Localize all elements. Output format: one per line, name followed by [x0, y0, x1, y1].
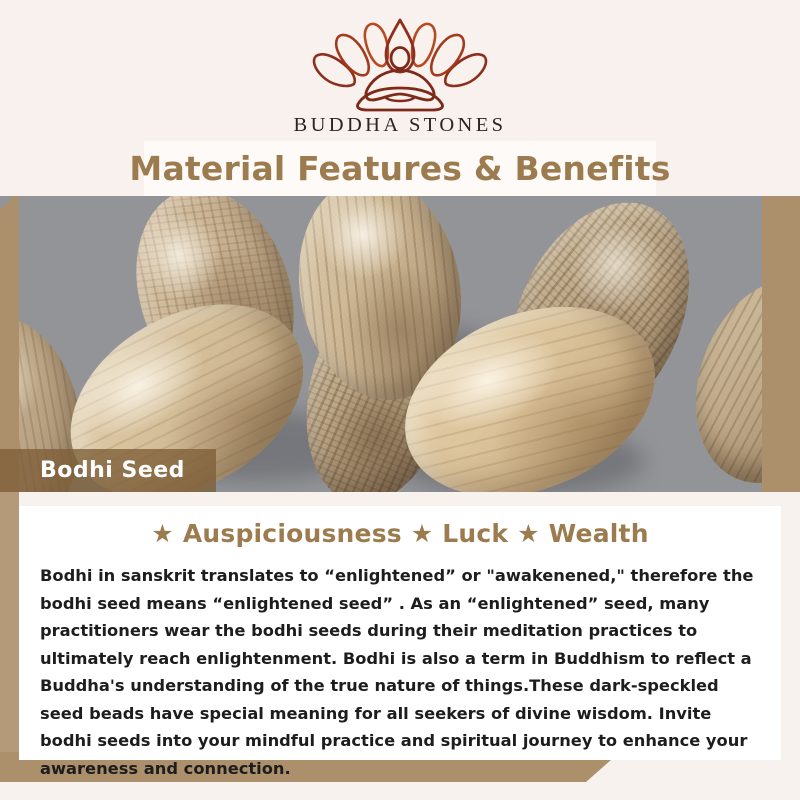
lotus-meditation-icon — [0, 18, 800, 112]
benefits-text: ★ Auspiciousness ★ Luck ★ Wealth — [151, 519, 648, 548]
status-badge: Bodhi Seed — [0, 449, 216, 492]
description-text: Bodhi in sanskrit translates to “enlight… — [40, 562, 762, 782]
frame-bar-right — [762, 196, 800, 492]
frame-bar-left — [0, 196, 19, 492]
title-band: Material Features & Benefits — [144, 141, 656, 196]
brand-logo: BUDDHA STONES — [0, 18, 800, 137]
header: BUDDHA STONES Material Features & Benefi… — [0, 0, 800, 196]
brand-name: BUDDHA STONES — [0, 114, 800, 137]
seed-name-label: Bodhi Seed — [40, 458, 185, 483]
benefits-line: ★ Auspiciousness ★ Luck ★ Wealth — [19, 519, 781, 548]
panel-top-tint — [19, 492, 781, 506]
poster: BUDDHA STONES Material Features & Benefi… — [0, 0, 800, 800]
frame-bar-bottom-left — [0, 492, 19, 782]
page-title: Material Features & Benefits — [129, 149, 670, 188]
bodhi-seeds-photo — [0, 196, 800, 492]
